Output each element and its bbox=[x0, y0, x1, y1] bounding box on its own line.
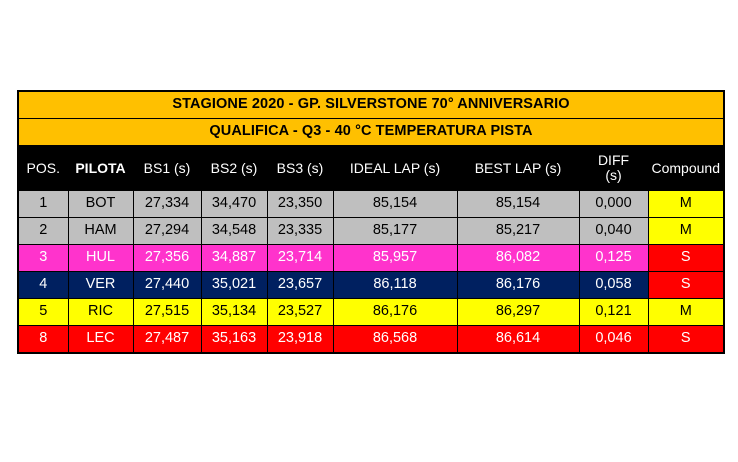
column-header-compound: Compound bbox=[648, 146, 724, 191]
cell-bs2: 35,134 bbox=[201, 299, 267, 326]
cell-pilota: LEC bbox=[68, 326, 133, 354]
cell-bs1: 27,294 bbox=[133, 218, 201, 245]
cell-best-lap: 86,614 bbox=[457, 326, 579, 354]
table-row: 5 RIC 27,515 35,134 23,527 86,176 86,297… bbox=[18, 299, 724, 326]
qualifying-results-table: STAGIONE 2020 - GP. SILVERSTONE 70° ANNI… bbox=[17, 90, 725, 354]
cell-pos: 2 bbox=[18, 218, 68, 245]
cell-bs1: 27,356 bbox=[133, 245, 201, 272]
table-row: 3 HUL 27,356 34,887 23,714 85,957 86,082… bbox=[18, 245, 724, 272]
cell-compound: S bbox=[648, 245, 724, 272]
cell-bs1: 27,515 bbox=[133, 299, 201, 326]
cell-best-lap: 85,154 bbox=[457, 191, 579, 218]
table-row: 8 LEC 27,487 35,163 23,918 86,568 86,614… bbox=[18, 326, 724, 354]
cell-pos: 1 bbox=[18, 191, 68, 218]
column-header-pilota: PILOTA bbox=[68, 146, 133, 191]
cell-bs2: 34,470 bbox=[201, 191, 267, 218]
cell-pos: 5 bbox=[18, 299, 68, 326]
cell-bs1: 27,334 bbox=[133, 191, 201, 218]
cell-diff: 0,125 bbox=[579, 245, 648, 272]
qualifying-results-sheet: STAGIONE 2020 - GP. SILVERSTONE 70° ANNI… bbox=[17, 90, 723, 354]
cell-diff: 0,058 bbox=[579, 272, 648, 299]
cell-bs1: 27,440 bbox=[133, 272, 201, 299]
cell-bs2: 34,548 bbox=[201, 218, 267, 245]
title-row-session: QUALIFICA - Q3 - 40 °C TEMPERATURA PISTA bbox=[18, 119, 724, 146]
table-row: 1 BOT 27,334 34,470 23,350 85,154 85,154… bbox=[18, 191, 724, 218]
title-row-season: STAGIONE 2020 - GP. SILVERSTONE 70° ANNI… bbox=[18, 91, 724, 119]
cell-diff: 0,046 bbox=[579, 326, 648, 354]
cell-best-lap: 86,176 bbox=[457, 272, 579, 299]
cell-diff: 0,000 bbox=[579, 191, 648, 218]
cell-ideal-lap: 85,177 bbox=[333, 218, 457, 245]
cell-pilota: HUL bbox=[68, 245, 133, 272]
cell-ideal-lap: 85,154 bbox=[333, 191, 457, 218]
cell-ideal-lap: 86,568 bbox=[333, 326, 457, 354]
cell-best-lap: 86,297 bbox=[457, 299, 579, 326]
cell-pilota: HAM bbox=[68, 218, 133, 245]
column-header-pos: POS. bbox=[18, 146, 68, 191]
cell-diff: 0,121 bbox=[579, 299, 648, 326]
cell-compound: M bbox=[648, 218, 724, 245]
column-header-row: POS. PILOTA BS1 (s) BS2 (s) BS3 (s) IDEA… bbox=[18, 146, 724, 191]
column-header-bs3: BS3 (s) bbox=[267, 146, 333, 191]
cell-pilota: BOT bbox=[68, 191, 133, 218]
cell-bs2: 34,887 bbox=[201, 245, 267, 272]
column-header-bs2: BS2 (s) bbox=[201, 146, 267, 191]
cell-ideal-lap: 85,957 bbox=[333, 245, 457, 272]
cell-bs2: 35,021 bbox=[201, 272, 267, 299]
column-header-ideal-lap: IDEAL LAP (s) bbox=[333, 146, 457, 191]
cell-ideal-lap: 86,176 bbox=[333, 299, 457, 326]
title-session-conditions: QUALIFICA - Q3 - 40 °C TEMPERATURA PISTA bbox=[18, 119, 724, 146]
cell-pilota: RIC bbox=[68, 299, 133, 326]
table-row: 4 VER 27,440 35,021 23,657 86,118 86,176… bbox=[18, 272, 724, 299]
cell-bs3: 23,527 bbox=[267, 299, 333, 326]
cell-compound: S bbox=[648, 272, 724, 299]
cell-best-lap: 85,217 bbox=[457, 218, 579, 245]
cell-diff: 0,040 bbox=[579, 218, 648, 245]
cell-bs3: 23,335 bbox=[267, 218, 333, 245]
cell-compound: S bbox=[648, 326, 724, 354]
column-header-diff-line1: DIFF bbox=[598, 152, 629, 168]
cell-bs3: 23,350 bbox=[267, 191, 333, 218]
column-header-diff-line2: (s) bbox=[605, 167, 621, 183]
title-season-event: STAGIONE 2020 - GP. SILVERSTONE 70° ANNI… bbox=[18, 91, 724, 119]
table-row: 2 HAM 27,294 34,548 23,335 85,177 85,217… bbox=[18, 218, 724, 245]
column-header-diff: DIFF (s) bbox=[579, 146, 648, 191]
cell-bs3: 23,714 bbox=[267, 245, 333, 272]
cell-bs2: 35,163 bbox=[201, 326, 267, 354]
cell-pilota: VER bbox=[68, 272, 133, 299]
cell-pos: 8 bbox=[18, 326, 68, 354]
cell-bs1: 27,487 bbox=[133, 326, 201, 354]
cell-best-lap: 86,082 bbox=[457, 245, 579, 272]
cell-pos: 3 bbox=[18, 245, 68, 272]
cell-bs3: 23,918 bbox=[267, 326, 333, 354]
cell-compound: M bbox=[648, 191, 724, 218]
cell-pos: 4 bbox=[18, 272, 68, 299]
column-header-bs1: BS1 (s) bbox=[133, 146, 201, 191]
cell-ideal-lap: 86,118 bbox=[333, 272, 457, 299]
cell-bs3: 23,657 bbox=[267, 272, 333, 299]
cell-compound: M bbox=[648, 299, 724, 326]
column-header-best-lap: BEST LAP (s) bbox=[457, 146, 579, 191]
